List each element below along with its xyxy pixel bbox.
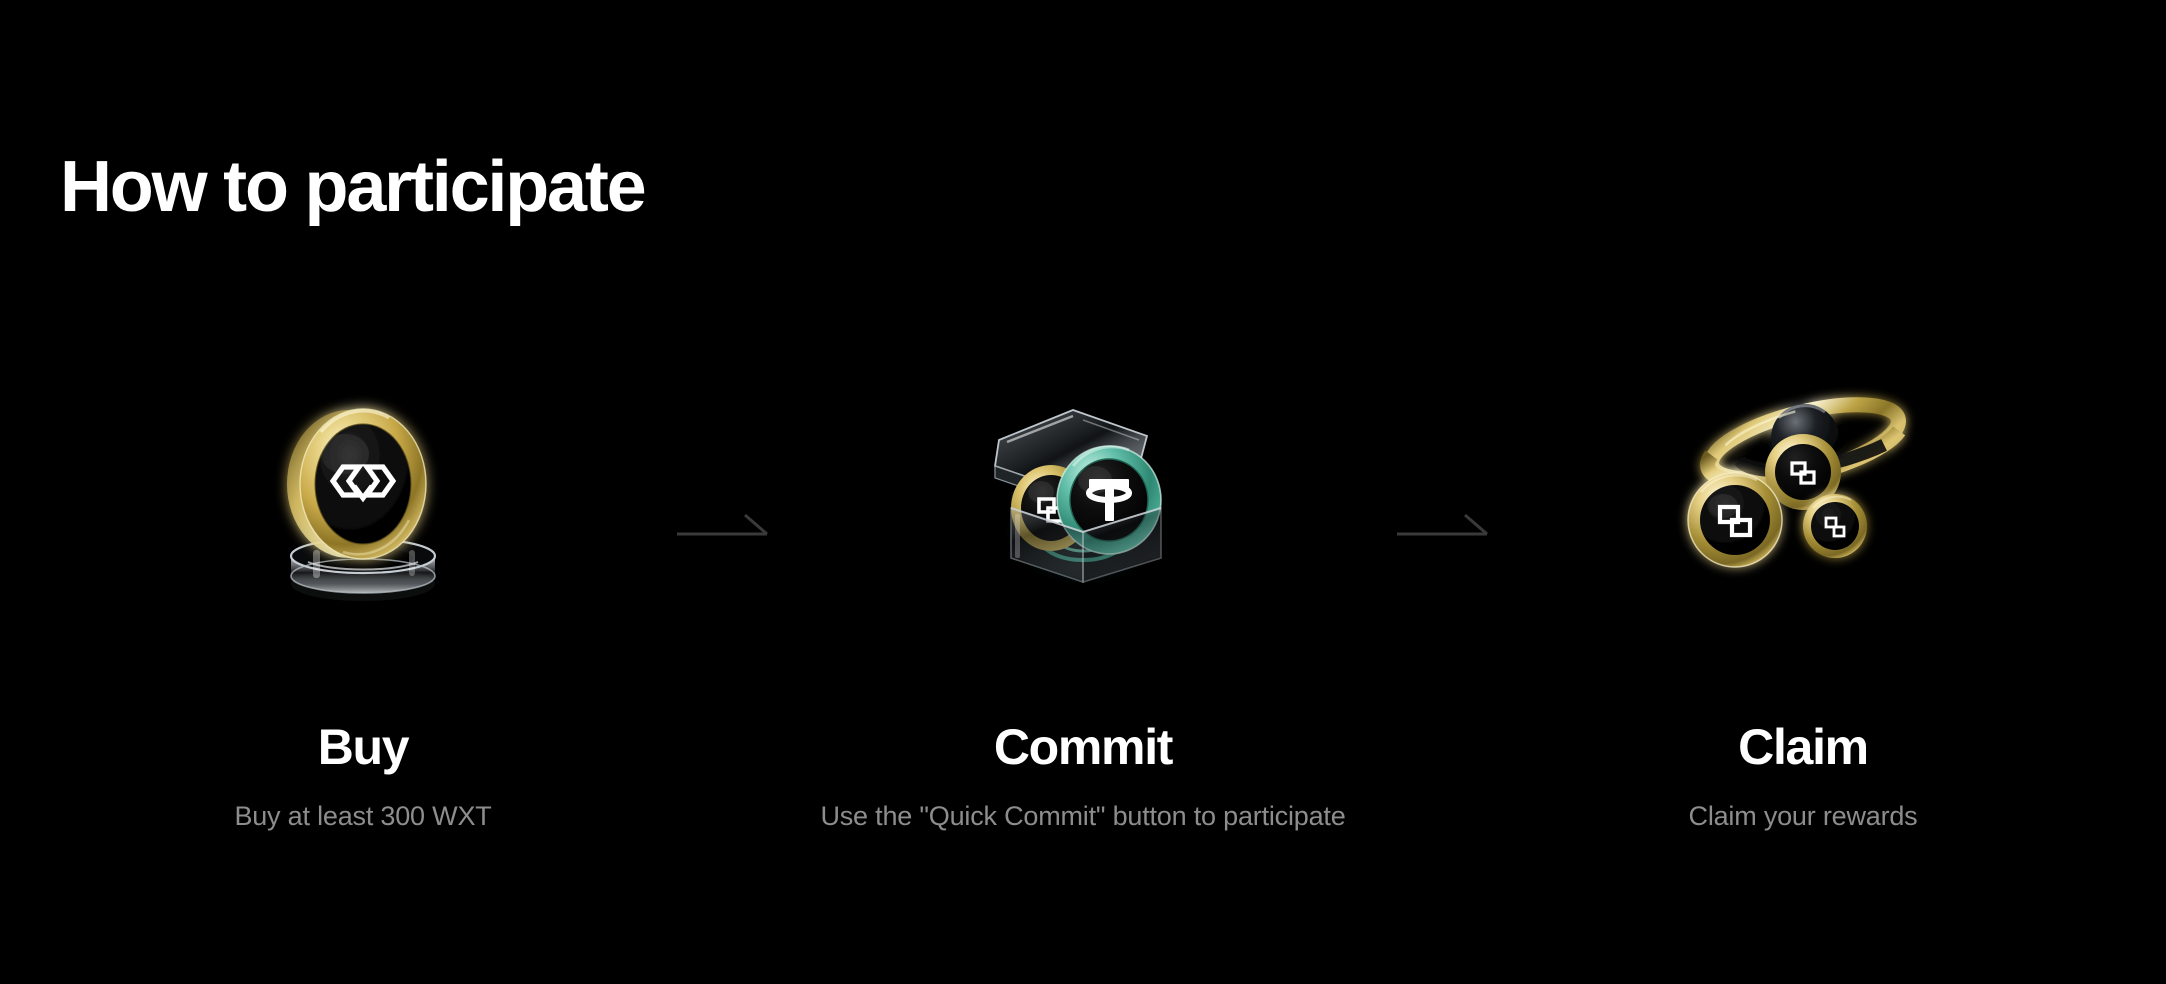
wxt-coin-large — [1688, 473, 1782, 567]
commit-illustration — [933, 380, 1233, 610]
step-title: Commit — [994, 722, 1172, 772]
connector-1 — [673, 380, 773, 539]
wxt-coin-small — [1803, 494, 1867, 558]
arrow-right-icon — [1397, 515, 1487, 534]
page-title: How to participate — [60, 150, 644, 226]
arrow-right-icon — [677, 515, 767, 534]
step-description: Use the "Quick Commit" button to partici… — [820, 800, 1345, 832]
buy-illustration — [213, 380, 513, 610]
step-description: Buy at least 300 WXT — [234, 800, 491, 832]
step-title: Claim — [1738, 722, 1868, 772]
steps-row: Buy Buy at least 300 WXT — [0, 380, 2166, 900]
wxt-coin — [287, 409, 426, 559]
how-to-participate-section: How to participate — [0, 0, 2166, 984]
step-commit: Commit Use the "Quick Commit" button to … — [773, 380, 1393, 832]
step-claim: Claim Claim your rewards — [1493, 380, 2113, 832]
connector-2 — [1393, 380, 1493, 539]
step-description: Claim your rewards — [1689, 800, 1918, 832]
step-title: Buy — [318, 722, 409, 772]
claim-illustration — [1653, 380, 1953, 610]
step-buy: Buy Buy at least 300 WXT — [53, 380, 673, 832]
